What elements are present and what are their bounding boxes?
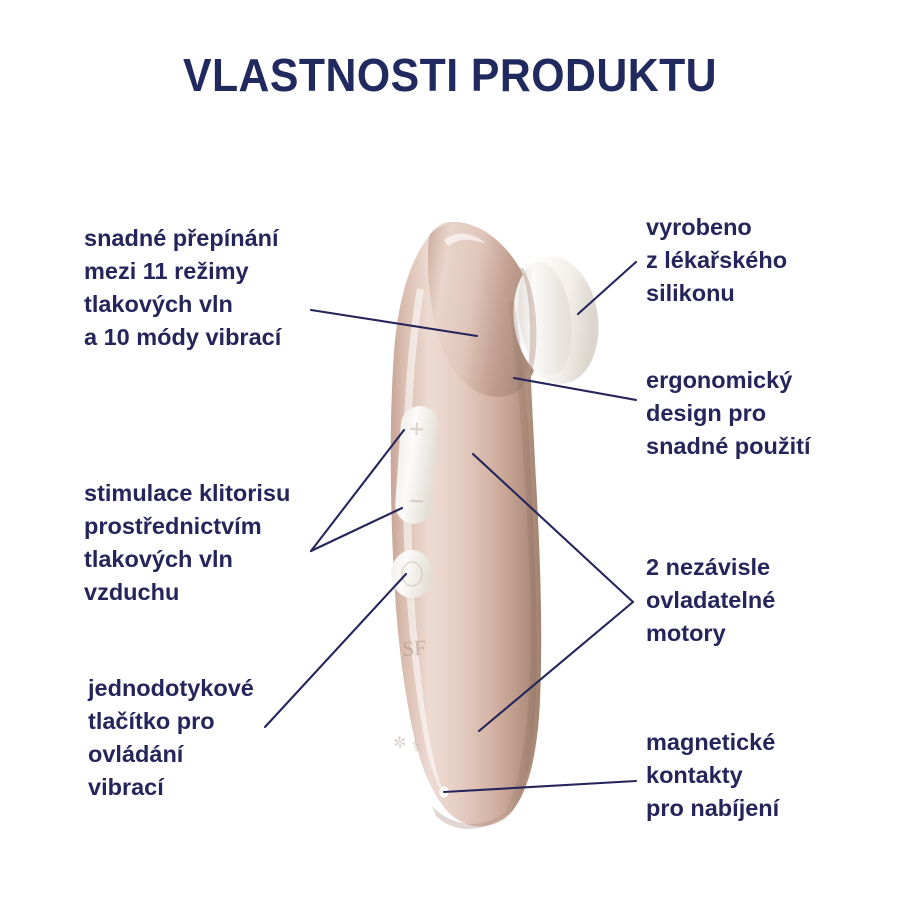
product-feature-diagram: VLASTNOSTI PRODUKTU	[0, 0, 900, 900]
callout-silicone: vyrobeno z lékařského silikonu	[646, 211, 886, 310]
svg-text:✼: ✼	[393, 734, 407, 752]
callout-one-touch: jednodotykové tlačítko pro ovládání vibr…	[88, 672, 318, 804]
callout-modes: snadné přepínání mezi 11 režimy tlakovýc…	[84, 222, 334, 354]
callout-magnetic: magnetické kontakty pro nabíjení	[646, 726, 896, 825]
callout-motors: 2 nezávisle ovladatelné motory	[646, 551, 886, 650]
magnetic-contact-right	[439, 786, 449, 797]
callout-ergonomic: ergonomický design pro snadné použití	[646, 364, 886, 463]
magnetic-contact-left	[421, 784, 429, 794]
callout-stimulation: stimulace klitorisu prostřednictvím tlak…	[84, 477, 334, 609]
brand-emboss: SF	[402, 635, 427, 661]
vibration-button[interactable]	[391, 550, 433, 598]
svg-text:⚕: ⚕	[411, 738, 421, 756]
